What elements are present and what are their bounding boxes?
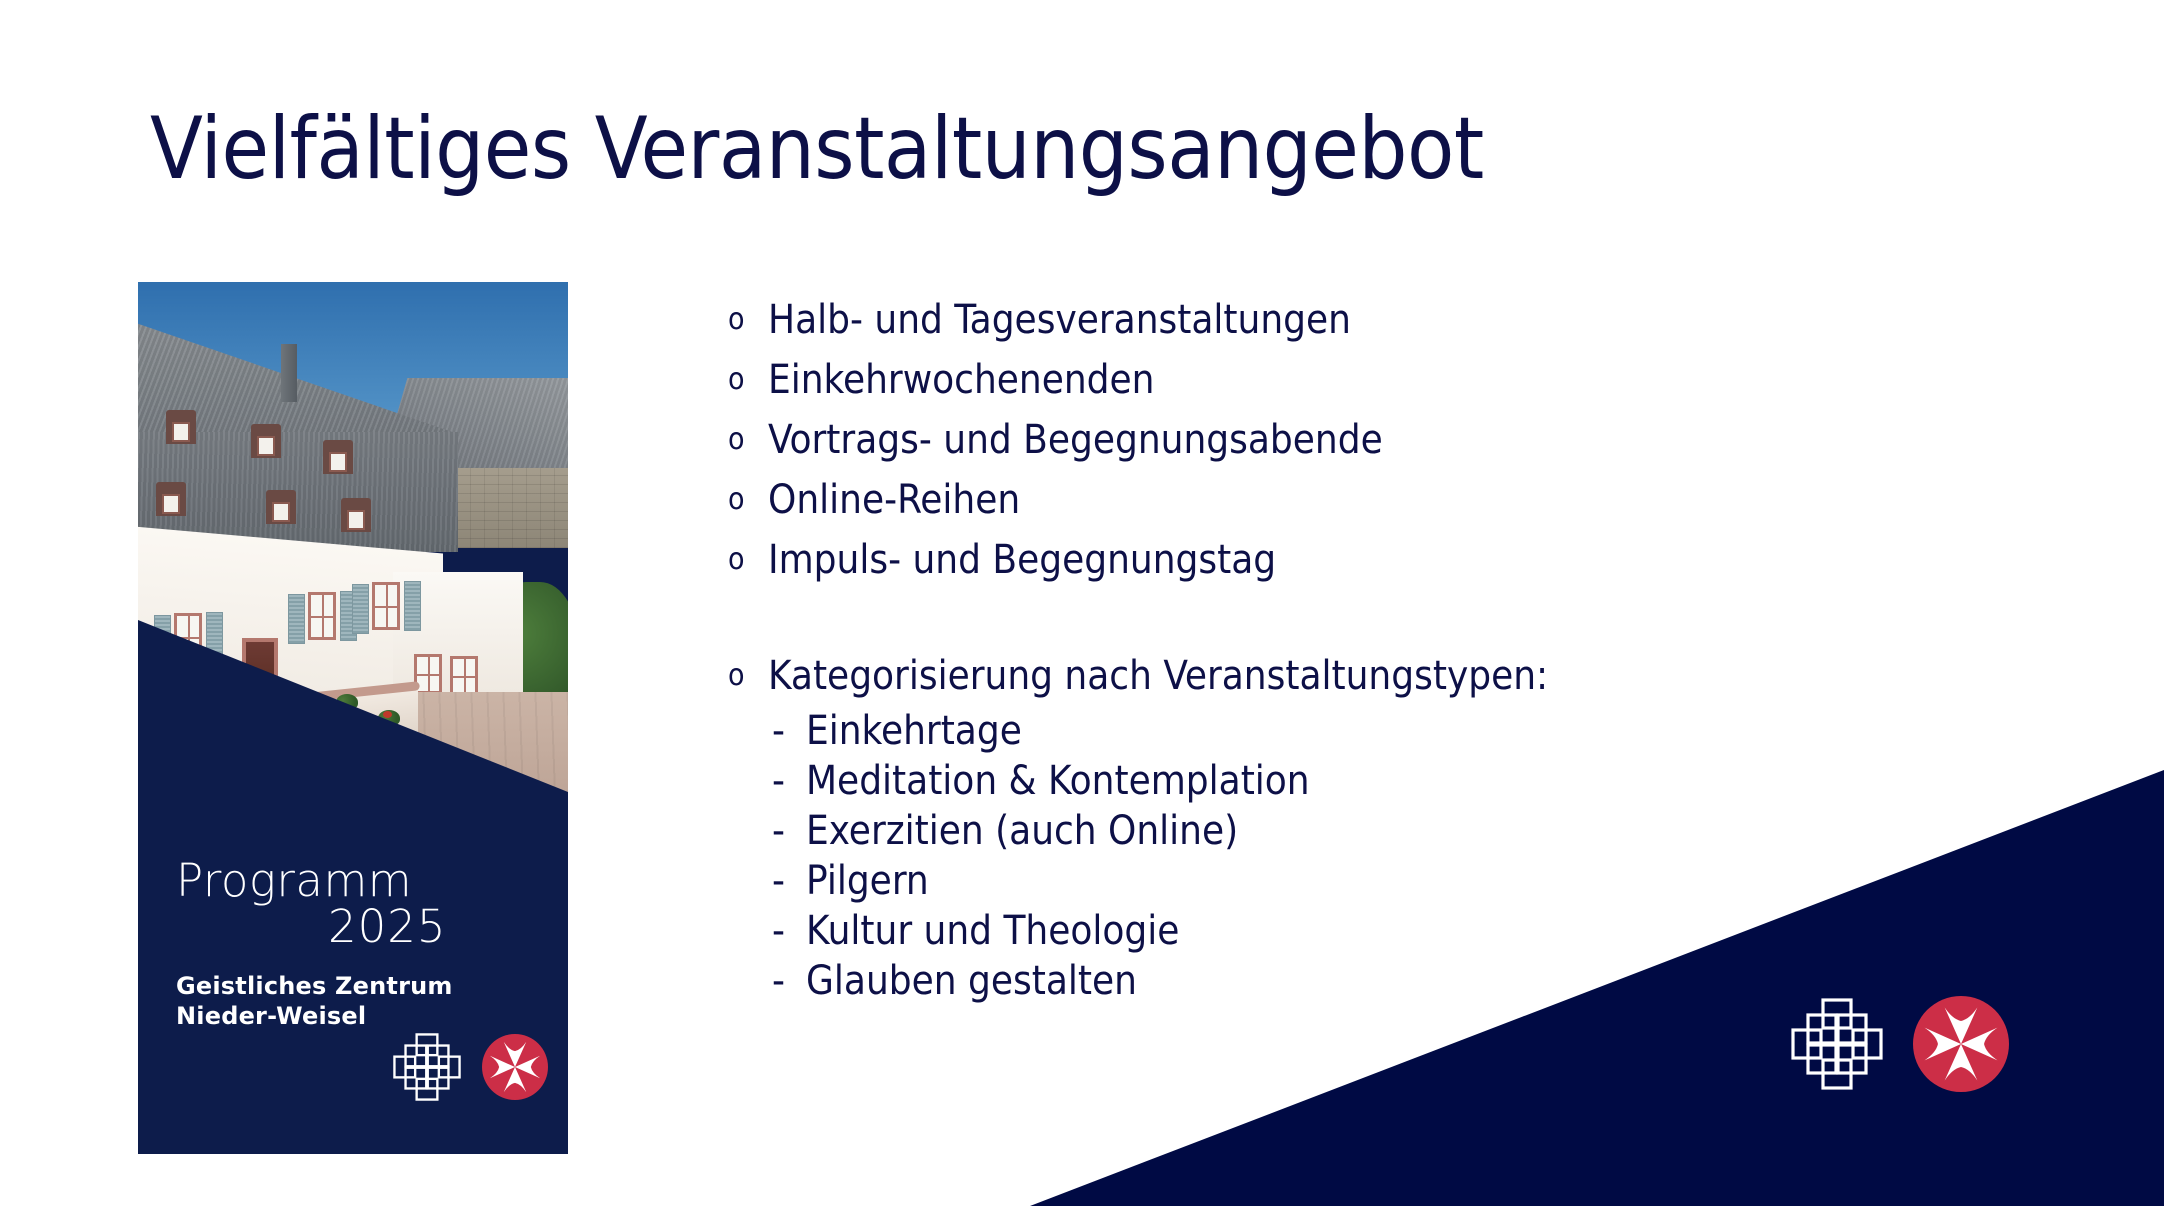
list-item-label: Exerzitien (auch Online) [806,806,1908,856]
category-sub-list: - Einkehrtage - Meditation & Kontemplati… [772,706,1908,1006]
bullet-circle-icon: o [728,290,768,350]
dash-icon: - [772,706,806,756]
bullet-circle-icon: o [728,646,768,706]
maltese-cross-logo [482,1034,548,1100]
bullet-circle-icon: o [728,350,768,410]
brochure-organisation-line2: Nieder-Weisel [176,1002,536,1031]
list-item-label: Kultur und Theologie [806,906,1908,956]
brochure-organisation-line1: Geistliches Zentrum [176,972,536,1001]
dash-icon: - [772,756,806,806]
list-item-label: Einkehrwochenenden [768,350,1908,410]
list-group-spacer [728,590,1908,646]
brochure-program-year: 2025 [328,903,536,950]
list-item-label: Glauben gestalten [806,956,1908,1006]
johanniter-square-cross-logo [1787,994,1887,1094]
bullet-circle-icon: o [728,410,768,470]
list-item: - Glauben gestalten [772,956,1908,1006]
content-bullet-list: o Halb- und Tagesveranstaltungen o Einke… [728,290,1908,1006]
list-item-label: Halb- und Tagesveranstaltungen [768,290,1908,350]
list-item-label: Impuls- und Begegnungstag [768,530,1908,590]
list-item: - Einkehrtage [772,706,1908,756]
brochure-logo-group [390,1030,548,1104]
list-item-label: Kategorisierung nach Veranstaltungstypen… [768,646,1908,706]
list-item: - Meditation & Kontemplation [772,756,1908,806]
list-item: o Online-Reihen [728,470,1908,530]
list-item-label: Einkehrtage [806,706,1908,756]
dash-icon: - [772,856,806,906]
brochure-program-word: Programm [176,858,536,903]
list-item-label: Meditation & Kontemplation [806,756,1908,806]
brochure-organisation: Geistliches Zentrum Nieder-Weisel [176,972,536,1031]
slide-canvas: Vielfältiges Veranstaltungsangebot [0,0,2164,1206]
dash-icon: - [772,906,806,956]
bullet-circle-icon: o [728,470,768,530]
list-item-category-heading: o Kategorisierung nach Veranstaltungstyp… [728,646,1908,706]
bullet-circle-icon: o [728,530,768,590]
page-title: Vielfältiges Veranstaltungsangebot [150,104,1484,194]
corner-logo-group [1787,994,2009,1094]
list-item: o Impuls- und Begegnungstag [728,530,1908,590]
list-item: - Kultur und Theologie [772,906,1908,956]
brochure-text-block: Programm 2025 Geistliches Zentrum Nieder… [176,858,536,1031]
list-item-label: Pilgern [806,856,1908,906]
brochure-card: Programm 2025 Geistliches Zentrum Nieder… [138,282,568,1154]
list-item: - Pilgern [772,856,1908,906]
list-item: o Vortrags- und Begegnungsabende [728,410,1908,470]
maltese-cross-logo [1913,996,2009,1092]
list-item: o Halb- und Tagesveranstaltungen [728,290,1908,350]
list-item: - Exerzitien (auch Online) [772,806,1908,856]
johanniter-square-cross-logo [390,1030,464,1104]
list-item: o Einkehrwochenenden [728,350,1908,410]
dash-icon: - [772,806,806,856]
list-item-label: Online-Reihen [768,470,1908,530]
list-item-label: Vortrags- und Begegnungsabende [768,410,1908,470]
dash-icon: - [772,956,806,1006]
